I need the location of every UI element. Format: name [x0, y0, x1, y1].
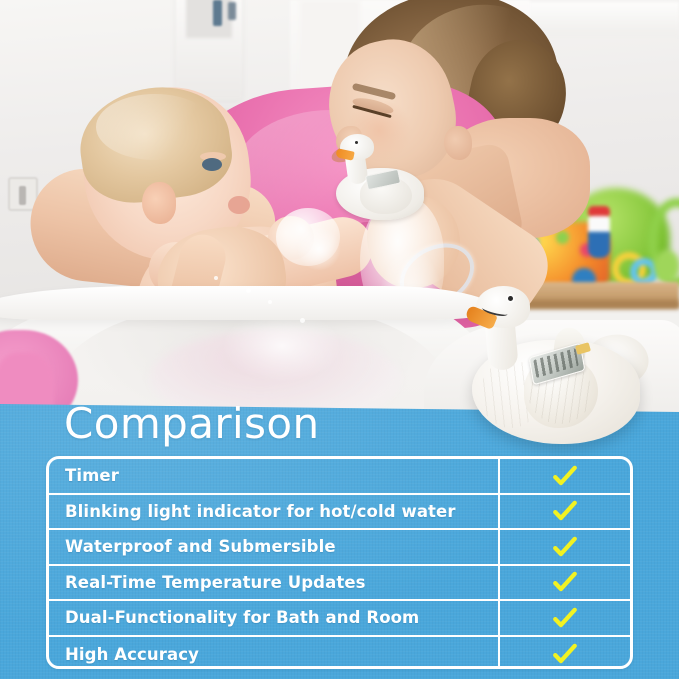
toy-blob: [654, 250, 679, 282]
check-icon: [552, 641, 578, 667]
swan-eye: [355, 141, 358, 144]
water-droplet: [214, 276, 218, 280]
feature-status-cell: [500, 495, 630, 529]
wall-switch-icon: [213, 0, 222, 26]
feature-label-cell: Dual-Functionality for Bath and Room: [49, 601, 500, 635]
check-icon: [552, 498, 578, 524]
feature-status-cell: [500, 459, 630, 493]
wall-switch-secondary-icon: [228, 2, 236, 20]
page-title: Comparison: [64, 402, 319, 446]
table-row: Waterproof and Submersible: [49, 530, 630, 566]
toy-figure: [588, 212, 610, 258]
feature-label-cell: Blinking light indicator for hot/cold wa…: [49, 495, 500, 529]
feature-status-cell: [500, 530, 630, 564]
feature-label: Waterproof and Submersible: [65, 537, 336, 556]
wall-cabinet-shadow: [186, 0, 232, 38]
check-icon: [552, 534, 578, 560]
feature-status-cell: [500, 566, 630, 600]
baby-eye: [202, 158, 222, 171]
soap-foam: [296, 228, 342, 270]
baby-hair-highlight: [96, 94, 214, 160]
feature-label-cell: Timer: [49, 459, 500, 493]
toy-car-detail: [556, 231, 569, 244]
water-droplet: [300, 318, 305, 323]
swan-eye: [508, 296, 513, 301]
water-droplet: [268, 300, 272, 304]
product-infographic: Comparison TimerBlinking light indicator…: [0, 0, 679, 679]
feature-label: High Accuracy: [65, 645, 199, 664]
swan-thermometer-product: [462, 282, 644, 454]
table-row: Dual-Functionality for Bath and Room: [49, 601, 630, 637]
feature-status-cell: [500, 637, 630, 670]
toy-figure-hat: [588, 206, 610, 216]
baby-ear: [142, 182, 176, 224]
feature-label-cell: Waterproof and Submersible: [49, 530, 500, 564]
feature-label: Dual-Functionality for Bath and Room: [65, 608, 419, 627]
swan-thermometer-held: [322, 128, 424, 222]
check-icon: [552, 463, 578, 489]
baby-mouth: [228, 196, 250, 214]
table-row: Timer: [49, 459, 630, 495]
table-row: Blinking light indicator for hot/cold wa…: [49, 495, 630, 531]
feature-label-cell: Real-Time Temperature Updates: [49, 566, 500, 600]
comparison-table: TimerBlinking light indicator for hot/co…: [46, 456, 633, 669]
feature-label-cell: High Accuracy: [49, 637, 500, 670]
soap-foam: [222, 310, 342, 382]
table-row: Real-Time Temperature Updates: [49, 566, 630, 602]
check-icon: [552, 605, 578, 631]
feature-label: Timer: [65, 466, 119, 485]
mother-ear: [444, 126, 472, 160]
feature-label: Real-Time Temperature Updates: [65, 573, 366, 592]
feature-label: Blinking light indicator for hot/cold wa…: [65, 502, 456, 521]
table-row: High Accuracy: [49, 637, 630, 670]
check-icon: [552, 569, 578, 595]
feature-status-cell: [500, 601, 630, 635]
water-droplet: [246, 288, 251, 293]
